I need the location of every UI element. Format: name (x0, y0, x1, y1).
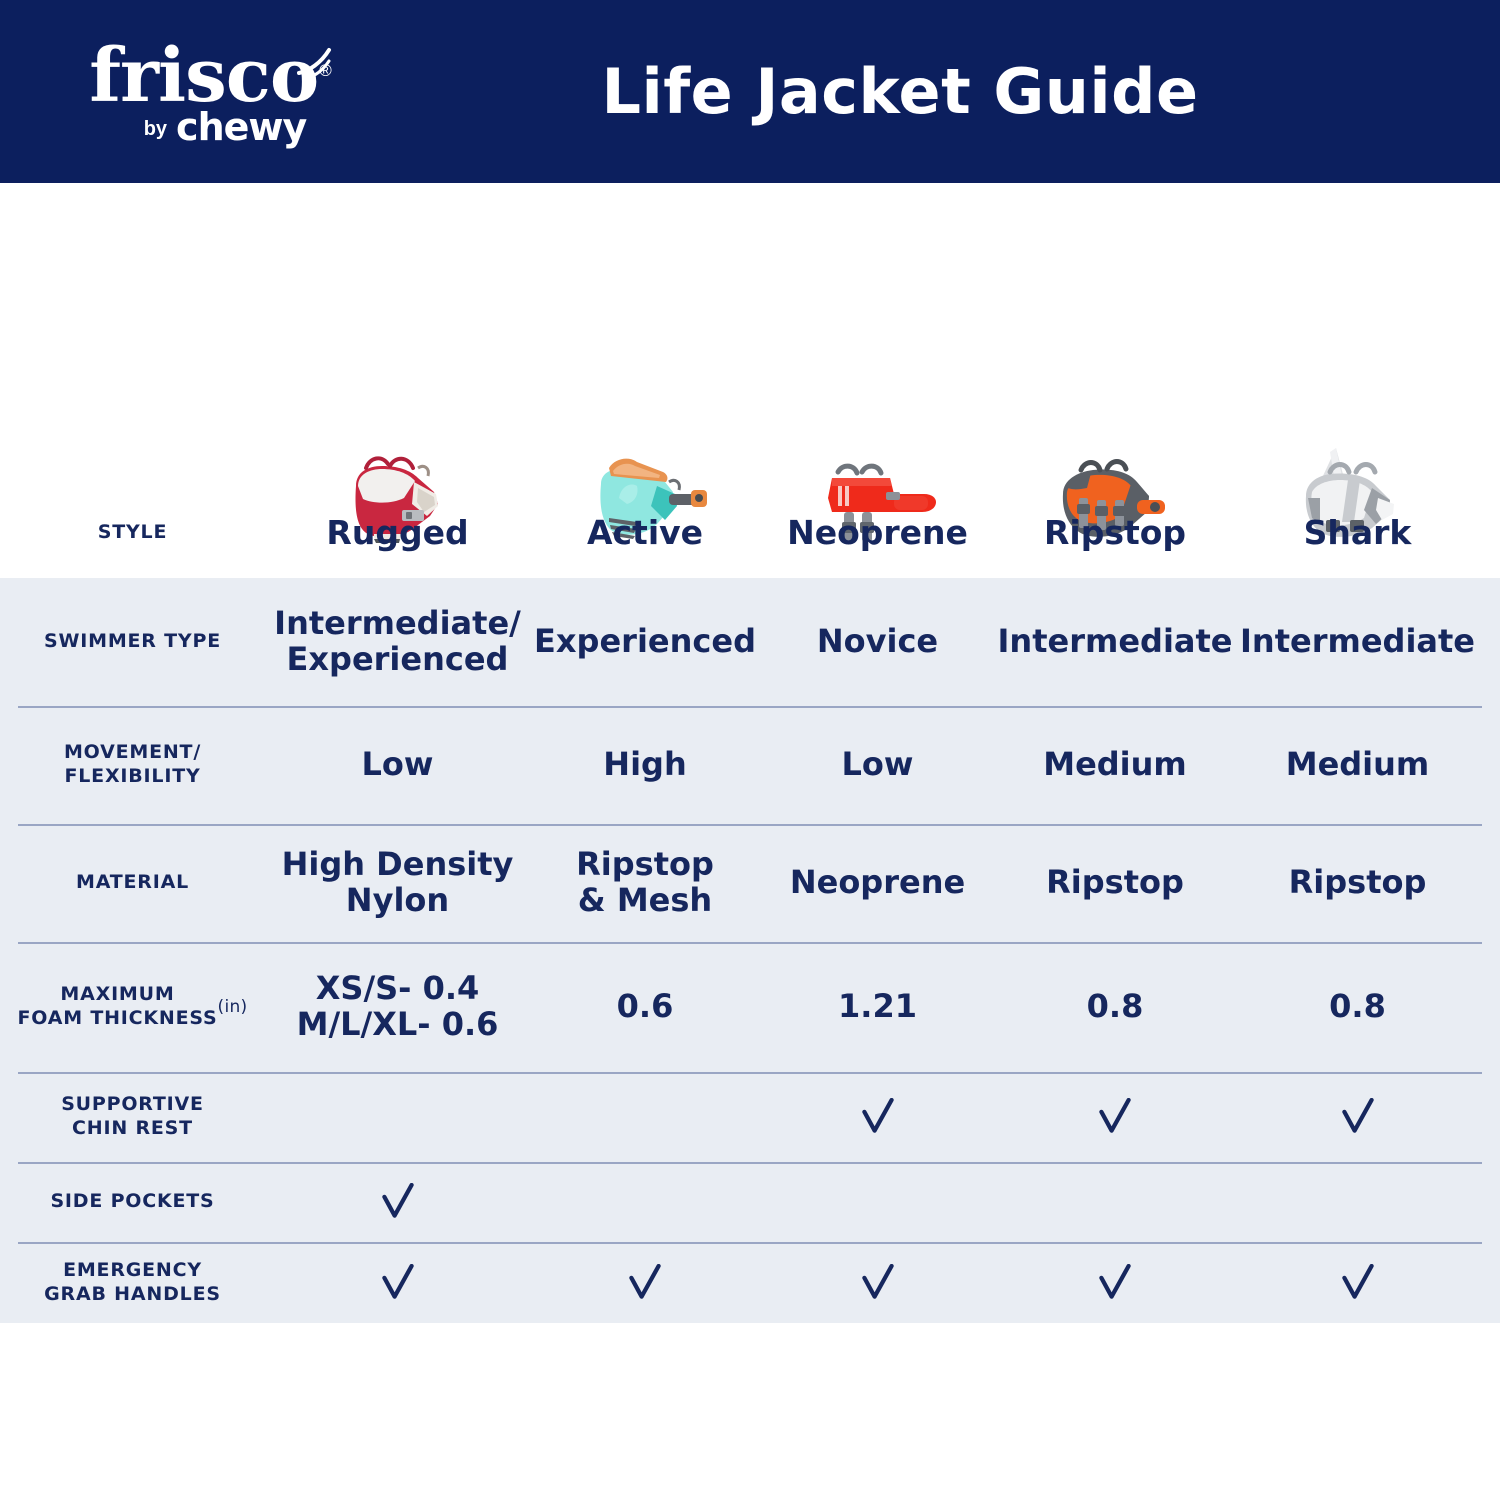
life-jacket-guide-page: frisco® by chewy Life Jacket Guide (0, 0, 1500, 1500)
cell-swimmer-type-active: Experienced (530, 578, 760, 706)
cell-sidepockets-ripstop (995, 1162, 1235, 1242)
row-label-emergency-grab-handles: EMERGENCYGRAB HANDLES (0, 1242, 265, 1323)
checkmark (1341, 1098, 1375, 1136)
cell-chinrest-ripstop (995, 1072, 1235, 1162)
checkmark-icon (861, 1264, 895, 1302)
cell-swimmer-type-shark: Intermediate (1235, 578, 1480, 706)
cell-swimmer-type-ripstop: Intermediate (995, 578, 1235, 706)
table-row-swimmer-type: SWIMMER TYPE Intermediate/Experienced Ex… (0, 578, 1500, 706)
cell-foam-neoprene: 1.21 (760, 942, 995, 1072)
row-label-material: MATERIAL (0, 824, 265, 942)
checkmark-icon (1098, 1098, 1132, 1136)
cell-movement-neoprene: Low (760, 706, 995, 824)
cell-material-shark: Ripstop (1235, 824, 1480, 942)
table-row-supportive-chin-rest: SUPPORTIVECHIN REST (0, 1072, 1500, 1162)
cell-sidepockets-active (530, 1162, 760, 1242)
row-label-supportive-chin-rest: SUPPORTIVECHIN REST (0, 1072, 265, 1162)
column-header-neoprene: Neoprene (760, 497, 995, 567)
cell-grabhandles-shark (1235, 1242, 1480, 1323)
cell-chinrest-rugged (265, 1072, 530, 1162)
row-label-side-pockets: SIDE POCKETS (0, 1162, 265, 1242)
cell-chinrest-neoprene (760, 1072, 995, 1162)
checkmark (381, 1264, 415, 1302)
column-header-ripstop: Ripstop (995, 497, 1235, 567)
column-header-rugged: Rugged (265, 497, 530, 567)
row-label-max-foam-thickness: MAXIMUMFOAM THICKNESS (in) (0, 942, 265, 1072)
row-label-style: STYLE (0, 497, 265, 567)
table-row-side-pockets: SIDE POCKETS (0, 1162, 1500, 1242)
cell-movement-shark: Medium (1235, 706, 1480, 824)
row-label-max-foam-thickness-unit: (in) (218, 997, 248, 1018)
page-title: Life Jacket Guide (420, 55, 1380, 128)
cell-foam-shark: 0.8 (1235, 942, 1480, 1072)
cell-swimmer-type-rugged: Intermediate/Experienced (265, 578, 530, 706)
style-header-row: STYLE Rugged Active Neoprene Ripstop Sha… (0, 497, 1500, 567)
checkmark (381, 1183, 415, 1221)
table-row-movement-flexibility: MOVEMENT/FLEXIBILITY Low High Low Medium… (0, 706, 1500, 824)
checkmark-icon (1341, 1264, 1375, 1302)
cell-material-neoprene: Neoprene (760, 824, 995, 942)
checkmark (1098, 1264, 1132, 1302)
checkmark (861, 1098, 895, 1136)
checkmark-icon (861, 1098, 895, 1136)
cell-chinrest-active (530, 1072, 760, 1162)
checkmark-icon (381, 1183, 415, 1221)
cell-movement-active: High (530, 706, 760, 824)
cell-sidepockets-rugged (265, 1162, 530, 1242)
cell-material-rugged: High DensityNylon (265, 824, 530, 942)
cell-material-active: Ripstop& Mesh (530, 824, 760, 942)
checkmark-icon (1341, 1098, 1375, 1136)
frisco-wordmark-text: frisco (89, 33, 318, 119)
column-header-active: Active (530, 497, 760, 567)
page-footer-whitespace (0, 1323, 1500, 1500)
frisco-by-chewy-logo: frisco® by chewy (0, 37, 420, 145)
cell-movement-rugged: Low (265, 706, 530, 824)
cell-foam-active: 0.6 (530, 942, 760, 1072)
checkmark-icon (1098, 1264, 1132, 1302)
by-label: by (144, 118, 167, 146)
checkmark-icon (628, 1264, 662, 1302)
checkmark (628, 1264, 662, 1302)
checkmark (861, 1264, 895, 1302)
cell-chinrest-shark (1235, 1072, 1480, 1162)
checkmark (1341, 1264, 1375, 1302)
cell-grabhandles-ripstop (995, 1242, 1235, 1323)
cell-sidepockets-neoprene (760, 1162, 995, 1242)
row-label-movement-flexibility: MOVEMENT/FLEXIBILITY (0, 706, 265, 824)
comparison-table: SWIMMER TYPE Intermediate/Experienced Ex… (0, 578, 1500, 1323)
row-label-max-foam-thickness-main: MAXIMUMFOAM THICKNESS (17, 983, 217, 1031)
frisco-wordmark: frisco® (89, 41, 331, 111)
cell-grabhandles-neoprene (760, 1242, 995, 1323)
cell-foam-rugged: XS/S- 0.4M/L/XL- 0.6 (265, 942, 530, 1072)
checkmark-icon (381, 1264, 415, 1302)
page-header: frisco® by chewy Life Jacket Guide (0, 0, 1500, 183)
cell-material-ripstop: Ripstop (995, 824, 1235, 942)
table-row-material: MATERIAL High DensityNylon Ripstop& Mesh… (0, 824, 1500, 942)
column-header-shark: Shark (1235, 497, 1480, 567)
table-row-emergency-grab-handles: EMERGENCYGRAB HANDLES (0, 1242, 1500, 1323)
cell-swimmer-type-neoprene: Novice (760, 578, 995, 706)
row-label-swimmer-type: SWIMMER TYPE (0, 578, 265, 706)
checkmark (1098, 1098, 1132, 1136)
cell-grabhandles-active (530, 1242, 760, 1323)
cell-foam-ripstop: 0.8 (995, 942, 1235, 1072)
cell-sidepockets-shark (1235, 1162, 1480, 1242)
cell-grabhandles-rugged (265, 1242, 530, 1323)
registered-trademark-icon: ® (319, 61, 331, 80)
cell-movement-ripstop: Medium (995, 706, 1235, 824)
table-row-max-foam-thickness: MAXIMUMFOAM THICKNESS (in) XS/S- 0.4M/L/… (0, 942, 1500, 1072)
